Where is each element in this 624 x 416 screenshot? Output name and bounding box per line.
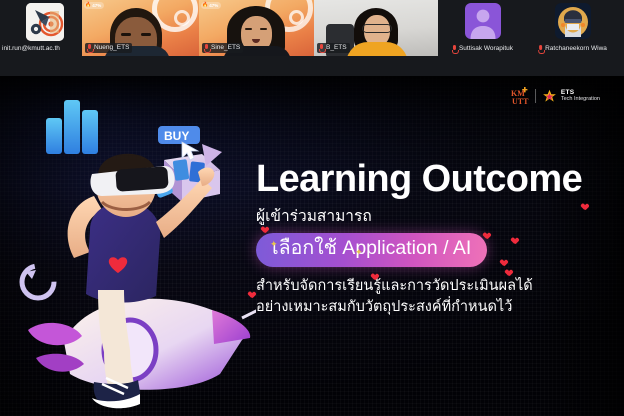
fire-emoji: 🔥 [202,2,208,9]
star-icon: ✦ [355,248,363,257]
heart-icon [506,270,513,276]
slide-body-line-1: สำหรับจัดการเรียนรู้และการวัดประเมินผลได… [256,276,606,297]
heart-icon [484,233,491,239]
participant-tile-init-run[interactable]: init.run@kmutt.ac.th [0,0,82,56]
participant-name: Nueng_ETS [94,44,129,52]
participant-tile-b-ets[interactable]: B_ETS [314,0,438,56]
profile-picture-init-run [26,3,64,41]
participant-name: Sine_ETS [211,44,240,52]
heart-icon [249,292,256,298]
slide-subline: ผู้เข้าร่วมสามารถ [256,207,606,226]
glasses-icon [362,24,392,33]
avatar-image [555,3,591,39]
person-eye [141,33,151,36]
slide-highlight-pill: เลือกใช้ Application / AI [256,233,487,267]
ets-logo: ETS Tech Integration [542,89,600,104]
participant-tile-sine-ets[interactable]: 🔥 47% Sine_ETS [199,0,314,56]
kmutt-logo-icon: KM UTT [511,86,529,106]
mic-muted-icon [319,44,324,52]
buy-label: BUY [164,129,189,143]
heart-icon [372,274,379,280]
refresh-icon [22,266,54,298]
logo-divider [535,89,536,103]
participant-name: B_ETS [326,44,347,52]
mic-muted-icon [452,45,457,53]
participant-name-badge: Ratchaneekorn Wiwa [536,44,610,54]
slide-body-line-2: อย่างเหมาะสมกับวัตถุประสงค์ที่กำหนดไว้ [256,297,606,318]
participant-tile-nueng-ets[interactable]: 🔥 47% Nueng_ETS [82,0,199,56]
bar-chart-graphic [46,100,98,154]
participant-tile-suttisak-worapituk[interactable]: Suttisak Worapituk [438,0,528,56]
person-eye [121,33,131,36]
rocket-graphic [28,299,256,390]
avatar-placeholder [465,3,501,39]
vr-person-riding-rocket-illustration: BUY [6,82,256,412]
participant-name: Suttisak Worapituk [459,45,513,53]
background-swirl [174,10,190,26]
background-swirl [289,10,304,25]
participant-name-badge: Suttisak Worapituk [450,44,516,54]
slide-body-text: สำหรับจัดการเรียนรู้และการวัดประเมินผลได… [256,276,606,317]
svg-text:UTT: UTT [512,97,529,106]
heart-icon [262,227,269,233]
shared-screen-slide[interactable]: KM UTT ETS Tech Integration [0,76,624,416]
mic-muted-icon [204,44,209,52]
slide-pill-text: เลือกใช้ Application / AI [272,237,471,259]
participant-video-strip: init.run@kmutt.ac.th 🔥 47% [0,0,624,76]
slide-text-column: Learning Outcome ผู้เข้าร่วมสามารถ เลือก… [256,160,606,317]
fire-emoji: 🔥 [85,2,91,9]
participant-name: Ratchaneekorn Wiwa [545,45,607,53]
slide-logo-lockup: KM UTT ETS Tech Integration [511,86,600,106]
participant-name-badge: init.run@kmutt.ac.th [0,44,63,54]
participant-name-badge: Sine_ETS [202,43,243,53]
participant-name-badge: Nueng_ETS [85,43,132,53]
reaction-value: 47% [92,2,101,9]
star-icon: ✦ [270,240,278,249]
mic-muted-icon [87,44,92,52]
participant-name: init.run@kmutt.ac.th [2,45,60,53]
heart-icon [501,260,508,266]
zoom-meeting-window: init.run@kmutt.ac.th 🔥 47% [0,0,624,416]
participant-name-badge: B_ETS [317,43,350,53]
buy-label-graphic: BUY [158,126,200,160]
ets-logo-text: ETS Tech Integration [561,90,600,103]
heart-icon [582,204,589,210]
ets-subtitle: Tech Integration [561,97,600,103]
heart-icon [512,238,519,244]
user-icon [465,3,501,39]
slide-headline: Learning Outcome [256,160,606,198]
ets-star-icon [542,89,557,104]
participant-tile-ratchaneekorn-wiwa[interactable]: Ratchaneekorn Wiwa [528,0,618,56]
reaction-badge: 🔥 47% [84,2,104,9]
reaction-value: 47% [209,2,218,9]
reaction-badge: 🔥 47% [201,2,221,9]
mic-muted-icon [538,45,543,53]
